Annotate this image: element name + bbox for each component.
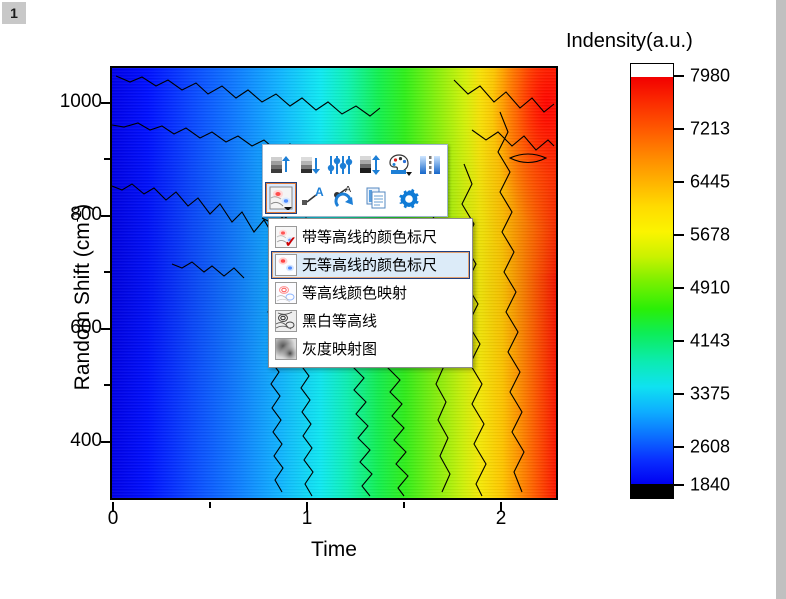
y-major-tick [101,215,110,217]
plot-type-dropdown-menu[interactable]: ✓ 带等高线的颜色标尺 无等高线的颜色标尺 [268,218,473,368]
y-axis-line [110,66,111,500]
colorbar-bottom-cap [631,484,673,498]
colorbar-tick [674,287,684,289]
colorbar-label: 7213 [690,119,730,140]
copy-format-button[interactable] [362,183,392,213]
colorbar-tick [674,340,684,342]
colorbar-label: 4910 [690,278,730,299]
colormap-style-button[interactable] [416,150,444,180]
colorbar-tick [674,181,684,183]
menu-item-label: 无等高线的颜色标尺 [302,258,437,273]
mini-toolbar-row-2: A A [266,181,444,214]
palette-button[interactable] [386,150,414,180]
colorbar-label: 7980 [690,66,730,87]
colorbar-top-cap [631,64,673,77]
x-axis-label[interactable]: Time [110,538,558,562]
colorbar-tick [674,128,684,130]
colorbar-label: 6445 [690,172,730,193]
x-tick-label: 0 [108,508,119,530]
plot-details-gear-button[interactable] [394,183,424,213]
colorbar-label: 5678 [690,225,730,246]
svg-text:A: A [315,186,324,199]
colorbar-gradient [631,77,673,484]
colorfill-icon [275,254,297,276]
menu-item-label: 黑白等高线 [302,314,377,329]
colorbar-label: 3375 [690,384,730,405]
menu-item-bw-contour[interactable]: 黑白等高线 [271,307,470,335]
move-layer-up-button[interactable] [266,150,294,180]
menu-item-contour-colorfill[interactable]: ✓ 带等高线的颜色标尺 [271,223,470,251]
y-minor-tick [104,158,110,160]
y-axis-label-suffix: ) [71,204,94,211]
menu-item-label: 带等高线的颜色标尺 [302,230,437,245]
y-minor-tick [104,384,110,386]
colorbar-tick [674,446,684,448]
colorbar-tick [674,484,684,486]
colorbar-tick [674,393,684,395]
colorbar-tick [674,75,684,77]
mini-toolbar-row-1 [266,148,444,181]
colorbar-tick [674,234,684,236]
rescale-levels-button[interactable] [356,150,384,180]
layer-number-badge[interactable]: 1 [2,2,26,24]
rotate-label-button[interactable]: A [330,183,360,213]
mini-toolbar[interactable]: A A [262,144,448,217]
menu-item-contour-color-map[interactable]: 等高线颜色映射 [271,279,470,307]
checkmark-icon: ✓ [284,235,297,248]
menu-item-label: 灰度映射图 [302,342,377,357]
contour-lines-color-icon [275,282,297,304]
y-major-tick [101,328,110,330]
menu-item-label: 等高线颜色映射 [302,286,407,301]
x-tick-label: 2 [496,508,507,530]
colorbar[interactable]: 7980 7213 6445 5678 4910 4143 3375 2608 … [630,63,674,499]
x-minor-tick [209,502,211,508]
colorbar-box [630,63,674,499]
origin-graph-window: 1 1000 [0,0,786,599]
y-axis-label[interactable]: Random Shift (cm-1) [69,147,95,447]
grayscale-map-icon [275,338,297,360]
y-tick-label: 1000 [60,91,102,113]
menu-item-colorfill-nocontour[interactable]: 无等高线的颜色标尺 [271,251,470,279]
x-tick-label: 1 [302,508,313,530]
colorbar-label: 4143 [690,331,730,352]
add-label-button[interactable]: A [298,183,328,213]
y-major-tick [101,102,110,104]
svg-text:A: A [345,186,351,194]
x-axis-ticks: 0 1 2 [110,502,558,542]
y-axis-label-prefix: Random Shift (cm [71,222,94,390]
colorbar-title[interactable]: Indensity(a.u.) [566,30,693,53]
move-layer-down-button[interactable] [296,150,324,180]
menu-item-grayscale-map[interactable]: 灰度映射图 [271,335,470,363]
y-major-tick [101,441,110,443]
right-gutter [776,0,786,599]
colorbar-label: 2608 [690,437,730,458]
y-axis-label-exponent: -1 [69,211,84,223]
plot-type-button[interactable] [266,183,296,213]
contour-colorfill-icon: ✓ [275,226,297,248]
x-minor-tick [403,502,405,508]
y-minor-tick [104,271,110,273]
adjust-levels-button[interactable] [326,150,354,180]
colorbar-label: 1840 [690,475,730,496]
contour-bw-icon [275,310,297,332]
